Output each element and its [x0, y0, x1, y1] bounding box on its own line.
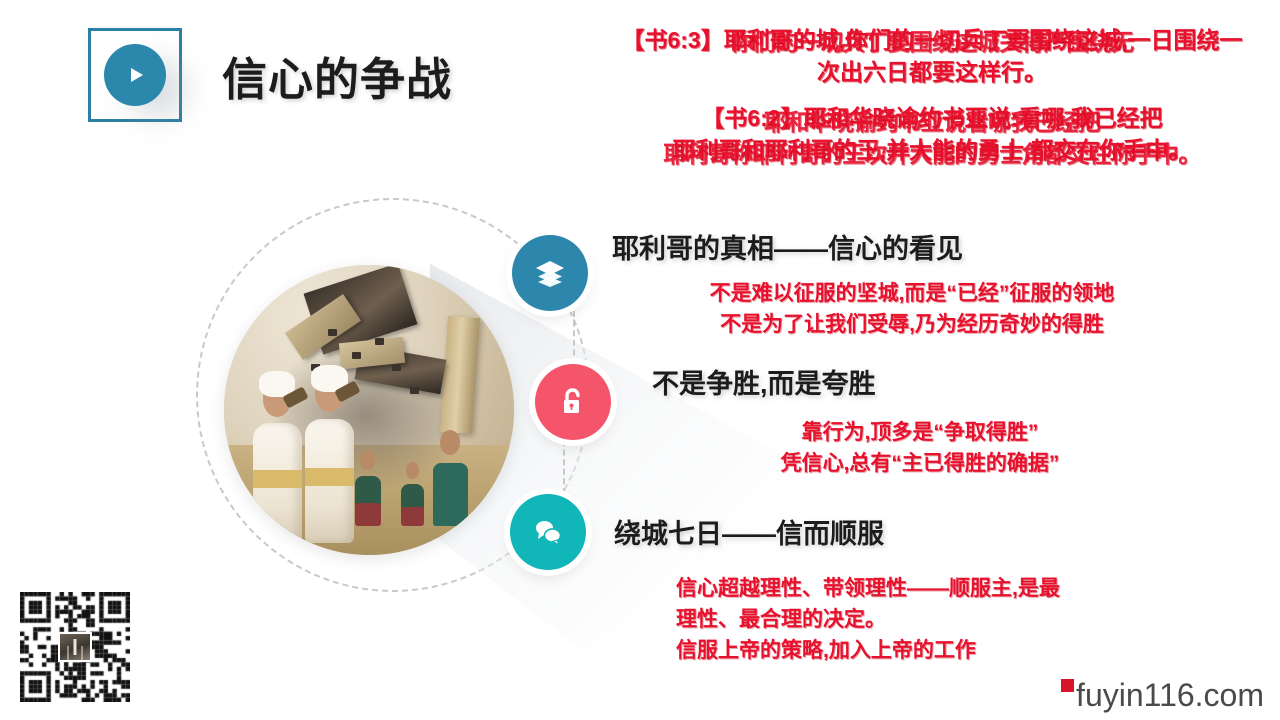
- figure-head: [440, 430, 459, 455]
- illustration-debris: [328, 329, 337, 336]
- scripture-verse-josh-6-3-ghost: 你们的一切兵丁要围绕这城关得严围绕无: [598, 26, 1266, 58]
- illustration-priest: [305, 375, 354, 543]
- section-heading: 不是争胜,而是夸胜: [652, 362, 1140, 401]
- section-body: 不是难以征服的坚城,而是“已经”征服的领地 不是为了让我们受辱,乃为经历奇妙的得…: [612, 278, 1212, 340]
- figure-skirt: [401, 507, 424, 526]
- section-heading: 耶利哥的真相——信心的看见: [612, 227, 1212, 266]
- section-seven-days: 绕城七日——信而顺服 信心超越理性、带领理性——顺服主,是最 理性、最合理的决定…: [614, 512, 1196, 666]
- verse-ghost-6-2-line1: 耶和华晓谕约书亚说看哪我已经把: [764, 109, 1100, 135]
- section-jericho-truth: 耶利哥的真相——信心的看见 不是难以征服的坚城,而是“已经”征服的领地 不是为了…: [612, 227, 1212, 340]
- illustration-fleeing-figure: [433, 430, 468, 526]
- page-title: 信心的争战: [222, 43, 452, 108]
- qr-center-logo: [58, 632, 92, 662]
- figure-skirt: [433, 497, 468, 526]
- figure-head: [406, 462, 419, 479]
- section-boast-not-strive: 不是争胜,而是夸胜 靠行为,顶多是“争取得胜” 凭信心,总有“主已得胜的确据”: [652, 362, 1140, 479]
- unlock-icon[interactable]: [535, 364, 611, 440]
- section-body: 信心超越理性、带领理性——顺服主,是最 理性、最合理的决定。 信服上帝的策略,加…: [676, 573, 1196, 666]
- presentation-slide: 信心的争战 【书6:3】耶利哥的城,你们的一切兵丁要围绕这城,一日围绕一 次出六…: [0, 0, 1280, 720]
- illustration-fleeing-figure: [355, 451, 381, 526]
- section-heading: 绕城七日——信而顺服: [614, 512, 1196, 551]
- body-line: 不是为了让我们受辱,乃为经历奇妙的得胜: [612, 309, 1212, 340]
- body-line: 不是难以征服的坚城,而是“已经”征服的领地: [612, 278, 1212, 309]
- jericho-illustration: [224, 265, 514, 555]
- illustration-debris: [410, 387, 419, 394]
- play-button-icon: [104, 44, 166, 106]
- body-line: 信服上帝的策略,加入上帝的工作: [676, 635, 1196, 666]
- connector-line: [573, 311, 575, 365]
- layers-icon[interactable]: [512, 235, 588, 311]
- priest-sash: [305, 468, 354, 487]
- qr-code[interactable]: [20, 592, 130, 702]
- illustration-debris: [375, 338, 384, 345]
- illustration-debris: [352, 352, 361, 359]
- body-line: 理性、最合理的决定。: [676, 604, 1196, 635]
- verse-text-6-3-line2: 次出六日都要这样行。: [817, 59, 1047, 85]
- priest-sash: [253, 470, 302, 488]
- site-watermark: fuyin116.com: [1061, 677, 1264, 714]
- scripture-zone: 【书6:3】耶利哥的城,你们的一切兵丁要围绕这城,一日围绕一 次出六日都要这样行…: [598, 18, 1266, 168]
- flag-icon: [1061, 679, 1074, 692]
- scripture-verse-josh-6-2-ghost: 耶和华晓谕约书亚说看哪我已经把 耶利哥称耶利哥的王次并大能的勇士角都交在你手中。: [598, 106, 1266, 170]
- speech-bubbles-icon[interactable]: [510, 494, 586, 570]
- watermark-text: fuyin116.com: [1076, 677, 1264, 713]
- verse-ghost-6-2-line2: 耶利哥称耶利哥的王次并大能的勇士角都交在你手中。: [663, 141, 1201, 167]
- body-line: 靠行为,顶多是“争取得胜”: [700, 417, 1140, 448]
- verse-ghost-6-3-line1: 你们的一切兵丁要围绕这城关得严围绕无: [730, 29, 1133, 55]
- connector-line: [563, 440, 565, 494]
- figure-head: [360, 451, 375, 471]
- body-line: 信心超越理性、带领理性——顺服主,是最: [676, 573, 1196, 604]
- section-body: 靠行为,顶多是“争取得胜” 凭信心,总有“主已得胜的确据”: [700, 417, 1140, 479]
- title-block: 信心的争战: [88, 28, 452, 122]
- illustration-priest: [253, 381, 302, 543]
- illustration-debris: [392, 364, 401, 371]
- illustration-fleeing-figure: [401, 462, 424, 526]
- body-line: 凭信心,总有“主已得胜的确据”: [700, 448, 1140, 479]
- figure-skirt: [355, 503, 381, 526]
- logo-frame: [88, 28, 182, 122]
